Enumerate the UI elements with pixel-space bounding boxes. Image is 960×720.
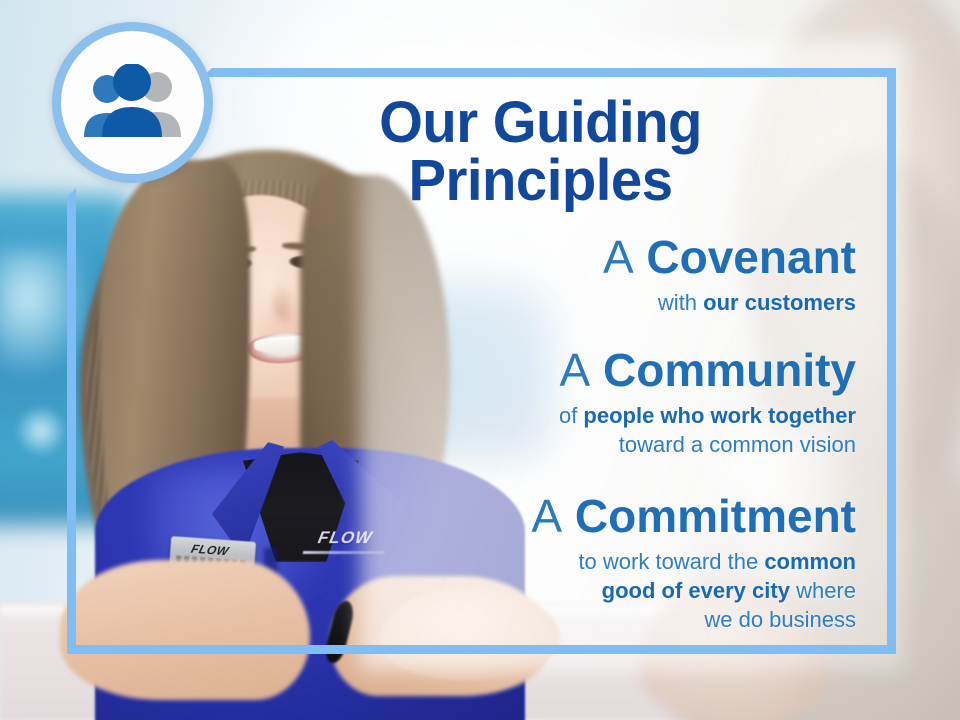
vehicle-emblem — [18, 408, 64, 454]
subtitle-text: with — [658, 290, 703, 315]
subtitle-emphasis: our customers — [703, 290, 856, 315]
subtitle-emphasis: common — [764, 549, 856, 574]
page-title: Our Guiding Principles — [210, 94, 839, 210]
principle-community-word: Community — [603, 344, 856, 396]
subtitle-text: where — [790, 578, 856, 603]
principle-commitment-subtitle: to work toward the commongood of every c… — [200, 547, 856, 634]
principle-commitment-word: Commitment — [575, 490, 856, 542]
subtitle-line: good of every city where — [200, 576, 856, 605]
people-group-icon — [52, 22, 213, 183]
principle-community-article: A — [560, 344, 591, 396]
subtitle-text: we do business — [704, 607, 856, 632]
subtitle-text: to work toward the — [578, 549, 764, 574]
subtitle-text: of — [559, 403, 583, 428]
subtitle-line: with our customers — [200, 288, 856, 317]
promo-graphic: FLOW FLOW Our Guiding Princip — [0, 0, 960, 720]
principle-commitment: A Commitment to work toward the commongo… — [200, 493, 856, 634]
subtitle-line: toward a common vision — [200, 430, 856, 459]
subtitle-line: we do business — [200, 605, 856, 634]
principle-covenant-article: A — [603, 231, 634, 283]
frame-border-left — [67, 198, 76, 654]
subtitle-line: of people who work together — [200, 401, 856, 430]
principle-community-subtitle: of people who work togethertoward a comm… — [200, 401, 856, 459]
principle-commitment-article: A — [531, 490, 562, 542]
subtitle-line: to work toward the common — [200, 547, 856, 576]
text-block: Our Guiding Principles A Covenant with o… — [200, 60, 900, 660]
principle-community-title: A Community — [200, 347, 856, 395]
subtitle-emphasis: people who work together — [583, 403, 856, 428]
principle-covenant-subtitle: with our customers — [200, 288, 856, 317]
subtitle-emphasis: good of every city — [602, 578, 790, 603]
principle-covenant-word: Covenant — [646, 231, 856, 283]
principle-community: A Community of people who work togethert… — [200, 347, 856, 459]
principle-covenant-title: A Covenant — [200, 234, 856, 282]
principle-covenant: A Covenant with our customers — [200, 234, 856, 317]
principle-commitment-title: A Commitment — [200, 493, 856, 541]
subtitle-text: toward a common vision — [619, 432, 856, 457]
